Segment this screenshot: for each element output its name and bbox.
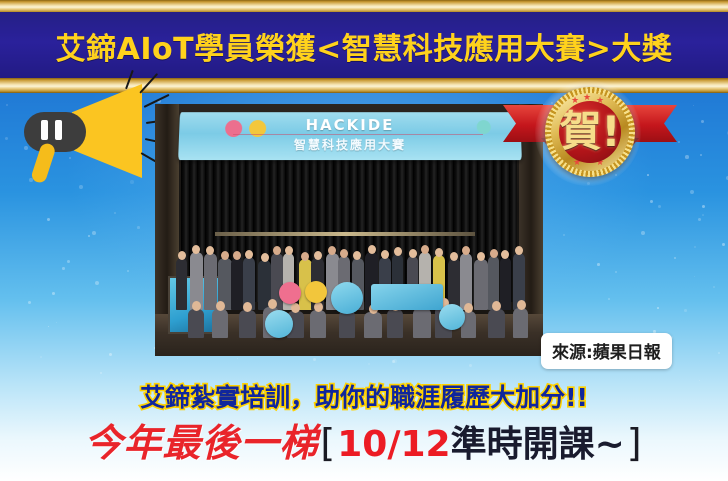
sparkle-dot: [469, 364, 472, 367]
held-sign: [265, 310, 293, 338]
attendee-head: [291, 303, 300, 313]
stage-banner-rule: [233, 134, 483, 135]
attendee-group: [171, 252, 527, 340]
attendee-head: [517, 300, 526, 310]
sparkle-dot: [5, 137, 8, 140]
attendee: [310, 310, 326, 338]
cta-rest: 準時開課~: [451, 424, 625, 465]
headline-text: 艾鍗AIoT學員榮獲<智慧科技應用大賽>大獎: [56, 24, 673, 68]
source-label: 來源:蘋果日報: [541, 333, 672, 369]
attendee: [413, 308, 431, 338]
sparkle-dot: [92, 231, 96, 235]
sparkle-dot: [95, 281, 99, 285]
held-sign: [279, 282, 301, 304]
attendee-head: [464, 303, 473, 313]
attendee: [364, 312, 382, 338]
sparkle-dot: [100, 372, 102, 374]
stage-light-bar: [215, 232, 475, 236]
sparkle-dot: [713, 286, 715, 288]
sparkle-dot: [597, 263, 600, 266]
sparkle-dot: [392, 360, 395, 363]
held-sign: [331, 282, 363, 314]
sparkle-dot: [722, 243, 725, 246]
attendee: [231, 258, 243, 310]
headline-banner: 艾鍗AIoT學員榮獲<智慧科技應用大賽>大獎: [0, 12, 728, 79]
sparkle-dot: [109, 353, 112, 356]
held-sign: [439, 304, 465, 330]
attendee-head: [477, 252, 485, 261]
sparkle-dot: [114, 212, 116, 214]
sparkle-dot: [674, 257, 676, 259]
gold-award-seal: ★ ★ ★ ★ ★ 賀!: [505, 78, 675, 188]
sparkle-dot: [52, 292, 55, 295]
sparkle-dot: [702, 214, 704, 216]
attendee: [339, 310, 355, 338]
medal-inner-ring: ★ ★ ★ ★ ★ 賀!: [551, 93, 629, 171]
attendee: [387, 309, 403, 338]
attendee-head: [314, 251, 322, 260]
award-ceremony-photo: HACKIDE 智慧科技應用大賽: [155, 104, 543, 356]
medal-ring: ★ ★ ★ ★ ★ 賀!: [545, 87, 635, 177]
sparkle-dot: [40, 356, 42, 358]
sparkle-dot: [563, 234, 565, 236]
attendee-head: [368, 245, 376, 254]
megaphone-icon: [14, 86, 164, 186]
sparkle-dot: [684, 309, 687, 312]
sparkle-dot: [6, 104, 8, 106]
sparkle-dot: [718, 352, 720, 354]
attendee-head: [353, 251, 361, 260]
attendee-head: [221, 251, 229, 260]
attendee-head: [261, 253, 269, 262]
sparkle-dot: [658, 205, 661, 208]
attendee-head: [301, 252, 309, 261]
attendee-head: [243, 302, 252, 312]
medal-character: 賀!: [559, 101, 621, 163]
sparkle-dot: [650, 200, 653, 203]
attendee-head: [192, 301, 201, 311]
cta-line: 今年最後一梯[10/12準時開課~]: [0, 424, 728, 463]
attendee-head: [233, 251, 241, 260]
sparkle-dot: [693, 105, 694, 106]
attendee: [460, 253, 472, 310]
attendee: [212, 309, 228, 338]
sparkle-dot: [313, 358, 316, 361]
sparkle-dot: [67, 260, 70, 263]
attendee-head: [178, 251, 186, 260]
attendee-head: [268, 299, 277, 309]
attendee-head: [515, 246, 523, 255]
attendee-head: [394, 247, 402, 256]
attendee-head: [409, 249, 417, 258]
held-sign: [305, 281, 327, 303]
sparkle-dot: [685, 155, 689, 159]
attendee-head: [216, 301, 225, 311]
attendee-head: [435, 248, 443, 257]
stage-banner-subtitle: 智慧科技應用大賽: [178, 136, 521, 153]
cta-lead: 今年最後一梯: [84, 421, 318, 465]
sparkle-dot: [56, 322, 57, 323]
cta-date: 10/12: [337, 424, 450, 465]
sparkle-dot: [701, 120, 704, 123]
sparkle-dot: [48, 326, 49, 327]
attendee-head: [421, 245, 429, 254]
sparkle-dot: [702, 205, 705, 208]
attendee: [188, 309, 204, 338]
megaphone-grip-bar: [55, 120, 62, 140]
held-sign: [371, 284, 443, 310]
sparkle-dot: [615, 271, 617, 273]
attendee: [500, 257, 511, 310]
stage-banner-title: HACKIDE: [179, 116, 521, 134]
sparkle-dot: [608, 298, 610, 300]
attendee-head: [462, 246, 470, 255]
sparkle-dot: [137, 226, 140, 229]
sparkle-dot: [393, 359, 397, 363]
cta-bracket-open: [: [320, 421, 335, 465]
medal-face: 賀!: [559, 101, 621, 163]
sparkle-dot: [88, 235, 90, 237]
sparkle-dot: [237, 358, 238, 359]
sparkle-dot: [28, 301, 31, 304]
megaphone-grip-bar: [41, 120, 48, 140]
sparkle-dot: [62, 267, 65, 270]
promo-poster: 艾鍗AIoT學員榮獲<智慧科技應用大賽>大獎 HACKIDE 智慧科技應用大賽: [0, 0, 728, 481]
attendee-head: [206, 246, 214, 255]
attendee: [176, 258, 187, 310]
attendee-head: [285, 246, 293, 255]
attendee-head: [501, 250, 509, 259]
tagline-text: 艾鍗紮實培訓，助你的職涯履歷大加分!!: [0, 378, 728, 414]
attendee: [488, 309, 505, 338]
attendee: [239, 310, 256, 338]
attendee-head: [245, 250, 253, 259]
attendee: [474, 259, 488, 310]
sparkle-dot: [694, 276, 695, 277]
sparkle-dot: [698, 218, 701, 221]
attendee-head: [381, 250, 389, 259]
attendee: [513, 308, 528, 338]
attendee-head: [273, 246, 281, 255]
attendee-head: [314, 302, 323, 312]
sparkle-dot: [127, 270, 129, 272]
sparkle-dot: [368, 363, 370, 365]
attendee-head: [492, 301, 501, 311]
stage-banner: HACKIDE 智慧科技應用大賽: [178, 112, 522, 160]
attendee: [204, 253, 217, 310]
sparkle-dot: [678, 141, 680, 143]
sparkle-dot: [690, 190, 694, 194]
sparkle-dot: [641, 231, 645, 235]
sparkle-dot: [47, 218, 50, 221]
sparkle-dot: [657, 307, 659, 309]
cta-bracket-close: ]: [627, 421, 642, 465]
attendee-head: [192, 245, 200, 254]
attendee-head: [450, 252, 458, 261]
attendee-head: [328, 246, 336, 255]
attendee-head: [490, 249, 498, 258]
attendee-head: [340, 249, 348, 258]
sparkle-dot: [694, 246, 696, 248]
sparkle-dot: [700, 154, 702, 156]
